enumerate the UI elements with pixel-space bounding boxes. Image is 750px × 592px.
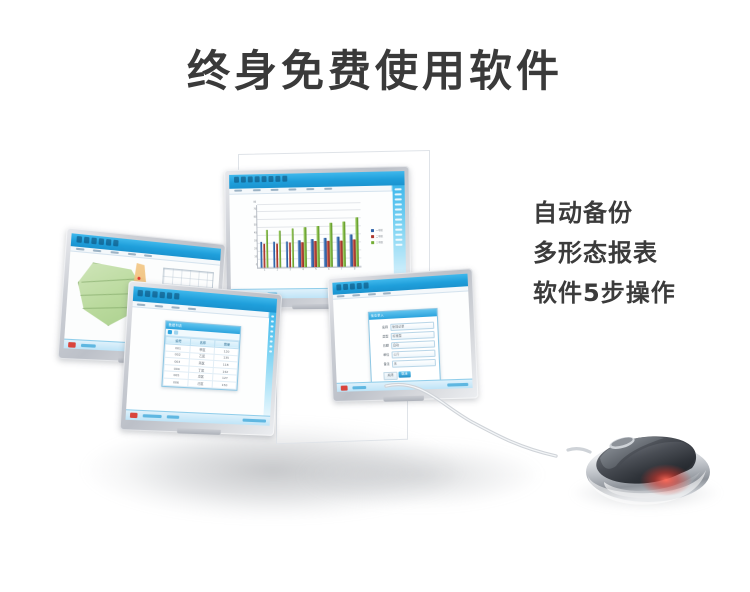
new-icon[interactable] <box>336 284 341 290</box>
feature-list: 自动备份 多形态报表 软件5步操作 <box>533 193 733 313</box>
delete-icon[interactable] <box>357 283 362 289</box>
print-icon[interactable] <box>167 292 173 299</box>
rail-item[interactable] <box>396 223 403 225</box>
open-icon[interactable] <box>241 177 246 183</box>
menu-help[interactable] <box>383 292 391 295</box>
chart-x-tick: 7 <box>341 267 342 270</box>
form-field-label: 备注 <box>374 362 390 367</box>
form-field-label: 日期 <box>373 344 389 349</box>
export-icon[interactable] <box>276 176 281 182</box>
form-field-input[interactable]: 新建记录 <box>390 321 434 330</box>
refresh-icon[interactable] <box>269 176 274 182</box>
menu-help[interactable] <box>144 254 152 257</box>
table-cell: 己区 <box>188 379 213 387</box>
chart-x-tick: 8 <box>354 267 355 270</box>
chart-plot-area: 0102030405060708012345678 <box>256 203 361 268</box>
form-field-value: 公斤 <box>392 350 434 356</box>
rail-item[interactable] <box>395 188 402 190</box>
form-row: 类型标准型 <box>373 331 435 341</box>
data-table[interactable]: 编号名称数量001甲区120002乙区135003丙区118004丁区14200… <box>163 336 240 389</box>
chart-legend-label: 一号区 <box>376 228 383 232</box>
chart-y-tick: 0 <box>256 263 257 266</box>
toolbar-icon-group[interactable] <box>336 283 368 291</box>
chart-y-tick: 20 <box>254 247 257 250</box>
menu-data[interactable] <box>154 304 162 307</box>
rail-item[interactable] <box>396 233 403 235</box>
chart-y-tick: 40 <box>254 232 257 235</box>
form-field-input[interactable]: 无 <box>392 359 436 368</box>
search-icon[interactable] <box>160 291 166 298</box>
form-field-input[interactable]: 标准型 <box>390 331 434 340</box>
zoom-out-icon[interactable] <box>83 237 89 244</box>
form-field-value: 无 <box>393 360 435 366</box>
menu-layer[interactable] <box>110 251 118 254</box>
chart-bar <box>330 223 333 266</box>
chart-bar <box>317 226 320 267</box>
entry-form-dialog[interactable]: 信息录入 名称新建记录类型标准型日期自动单位公斤备注无 确定取消关闭 <box>368 308 441 384</box>
add-icon[interactable] <box>138 289 144 296</box>
toolbar-icon-group[interactable] <box>234 176 287 183</box>
chart-bar-group <box>349 203 359 266</box>
rail-item[interactable] <box>395 213 402 215</box>
rail-item[interactable] <box>270 330 274 332</box>
status-alert-icon <box>68 342 76 348</box>
menu-edit[interactable] <box>252 190 260 192</box>
rail-item[interactable] <box>396 238 403 240</box>
chart-legend-label: 三号区 <box>376 240 383 244</box>
menu-report[interactable] <box>288 189 296 191</box>
form-field-label: 名称 <box>372 325 388 330</box>
feature-item-3: 软件5步操作 <box>533 273 733 313</box>
chart-legend-swatch <box>371 241 374 244</box>
rail-item[interactable] <box>395 218 402 220</box>
chart-bar-group <box>310 204 320 267</box>
chart-legend-item: 三号区 <box>371 240 383 244</box>
menu-tools[interactable] <box>128 253 136 256</box>
chart-bar <box>265 230 268 268</box>
rail-item[interactable] <box>395 203 402 205</box>
data-list-dialog[interactable]: 数据列表 编号名称数量001甲区120002乙区135003丙区118004丁区… <box>162 320 242 390</box>
new-icon[interactable] <box>234 177 239 183</box>
monitor-stand <box>383 396 424 402</box>
form-field-input[interactable]: 自动 <box>391 340 435 349</box>
status-text <box>352 386 366 389</box>
undo-icon[interactable] <box>350 283 355 289</box>
menu-help[interactable] <box>188 307 196 310</box>
form-field-input[interactable]: 公斤 <box>391 349 435 358</box>
edit-icon[interactable] <box>145 290 151 297</box>
rail-item[interactable] <box>395 198 402 200</box>
rail-item[interactable] <box>270 320 274 322</box>
chart-bar-group <box>285 204 295 267</box>
dialog-filter-button[interactable] <box>174 330 178 334</box>
chart-legend-swatch <box>371 229 374 232</box>
form-row: 单位公斤 <box>373 349 435 359</box>
feature-item-2: 多形态报表 <box>533 233 733 273</box>
rail-item[interactable] <box>269 335 273 337</box>
form-action-button[interactable]: 取消 <box>398 371 410 378</box>
monitor-shadow-secondary <box>300 430 600 520</box>
poster-canvas: 终身免费使用软件 自动备份 多形态报表 软件5步操作 <box>0 0 750 592</box>
form-work-area: 信息录入 名称新建记录类型标准型日期自动单位公斤备注无 确定取消关闭 <box>333 292 472 383</box>
chart-bar-group <box>323 203 333 266</box>
select-icon[interactable] <box>98 238 104 245</box>
chart-y-tick: 10 <box>254 255 257 258</box>
form-field-value: 新建记录 <box>391 322 433 328</box>
form-row: 日期自动 <box>373 340 435 350</box>
chart-bar <box>304 227 307 266</box>
rail-item[interactable] <box>269 345 273 347</box>
chart-legend: 一号区二号区三号区 <box>371 228 383 246</box>
status-alert-icon <box>130 412 138 418</box>
help-icon[interactable] <box>283 176 288 182</box>
form-monitor-bezel: 信息录入 名称新建记录类型标准型日期自动单位公斤备注无 确定取消关闭 <box>327 268 478 402</box>
toolbar-icon-group[interactable] <box>76 236 118 247</box>
chart-x-tick: 6 <box>328 268 329 271</box>
print-icon[interactable] <box>255 177 260 183</box>
chart-legend-label: 二号区 <box>376 234 383 238</box>
chart-legend-item: 一号区 <box>371 228 383 232</box>
chart-y-tick: 30 <box>254 239 257 242</box>
form-monitor[interactable]: 信息录入 名称新建记录类型标准型日期自动单位公斤备注无 确定取消关闭 <box>327 268 478 402</box>
table-monitor-screen[interactable]: 数据列表 编号名称数量001甲区120002乙区135003丙区118004丁区… <box>125 286 277 425</box>
settings-icon[interactable] <box>364 283 369 289</box>
status-text <box>242 418 266 422</box>
chart-bar-group <box>298 204 308 267</box>
layers-icon[interactable] <box>113 240 119 247</box>
chart-bar <box>355 217 358 266</box>
dialog-title: 信息录入 <box>371 313 384 318</box>
table-cell: 006 <box>163 378 188 386</box>
chart-x-tick: 2 <box>277 268 278 271</box>
chart-y-tick: 70 <box>254 208 257 211</box>
table-monitor[interactable]: 数据列表 编号名称数量001甲区120002乙区135003丙区118004丁区… <box>119 281 282 436</box>
table-cell: 150 <box>212 381 236 389</box>
chart-y-tick: 80 <box>253 200 256 203</box>
pan-icon[interactable] <box>91 238 97 245</box>
menu-record[interactable] <box>352 294 360 297</box>
form-monitor-screen[interactable]: 信息录入 名称新建记录类型标准型日期自动单位公斤备注无 确定取消关闭 <box>332 274 472 392</box>
menu-file[interactable] <box>75 248 84 251</box>
chart-bar <box>278 230 281 267</box>
chart-legend-item: 二号区 <box>371 234 383 238</box>
chart-icon[interactable] <box>262 177 267 183</box>
status-text <box>447 382 468 386</box>
chart-x-tick: 1 <box>264 268 265 271</box>
form-field-label: 单位 <box>373 353 389 358</box>
chart-y-tick: 60 <box>254 216 257 219</box>
form-button-row[interactable]: 确定取消关闭 <box>371 370 439 378</box>
chart-bar-group <box>272 204 282 267</box>
rail-item[interactable] <box>269 350 273 352</box>
chart-y-tick: 50 <box>254 224 257 227</box>
rail-item[interactable] <box>270 325 274 327</box>
status-text <box>143 414 162 418</box>
rail-item[interactable] <box>271 315 275 317</box>
chart-bar <box>342 221 345 266</box>
zoom-in-icon[interactable] <box>76 236 82 243</box>
menu-file[interactable] <box>234 190 242 192</box>
chart-legend-swatch <box>371 235 374 238</box>
chart-x-tick: 4 <box>302 268 303 271</box>
menu-file[interactable] <box>137 303 146 306</box>
rail-item[interactable] <box>396 243 403 245</box>
form-field-label: 类型 <box>373 334 389 339</box>
page-title: 终身免费使用软件 <box>0 44 750 100</box>
rail-item[interactable] <box>269 340 273 342</box>
table-monitor-bezel: 数据列表 编号名称数量001甲区120002乙区135003丙区118004丁区… <box>119 281 282 436</box>
chart-bar-group <box>259 205 269 268</box>
save-icon[interactable] <box>248 177 253 183</box>
chart-bar-group <box>336 203 346 266</box>
bar-chart: 0102030405060708012345678 一号区二号区三号区 <box>244 199 384 277</box>
form-field-value: 自动 <box>392 341 434 347</box>
rail-item[interactable] <box>395 208 402 210</box>
measure-icon[interactable] <box>105 239 111 246</box>
chart-x-tick: 3 <box>289 268 290 271</box>
save-icon[interactable] <box>343 284 348 290</box>
menu-view[interactable] <box>270 189 278 191</box>
dialog-add-button[interactable] <box>168 330 172 334</box>
delete-icon[interactable] <box>152 291 158 298</box>
status-text <box>167 415 180 419</box>
chart-bar <box>291 228 294 266</box>
menu-tools[interactable] <box>368 293 376 296</box>
mouse-cable-stub <box>568 449 590 452</box>
chart-x-tick: 5 <box>315 268 316 271</box>
toolbar-icon-group[interactable] <box>138 289 180 299</box>
form-field-list[interactable]: 名称新建记录类型标准型日期自动单位公斤备注无 <box>369 316 439 368</box>
feature-item-1: 自动备份 <box>533 193 733 233</box>
rail-item[interactable] <box>396 228 403 230</box>
dialog-title: 数据列表 <box>168 323 182 328</box>
menu-help[interactable] <box>325 188 333 190</box>
form-field-value: 标准型 <box>391 332 433 338</box>
menu-map[interactable] <box>93 249 102 252</box>
status-text <box>81 343 96 347</box>
menu-tools[interactable] <box>306 188 314 190</box>
export-icon[interactable] <box>174 292 180 299</box>
menu-file[interactable] <box>337 295 345 297</box>
form-row: 备注无 <box>374 359 436 369</box>
table-work-area: 数据列表 编号名称数量001甲区120002乙区135003丙区118004丁区… <box>126 308 269 416</box>
form-close-button[interactable]: 关闭 <box>383 371 397 380</box>
rail-item[interactable] <box>395 193 402 195</box>
status-alert-icon <box>341 385 348 390</box>
computer-mouse[interactable] <box>560 414 724 510</box>
menu-view[interactable] <box>171 306 179 309</box>
